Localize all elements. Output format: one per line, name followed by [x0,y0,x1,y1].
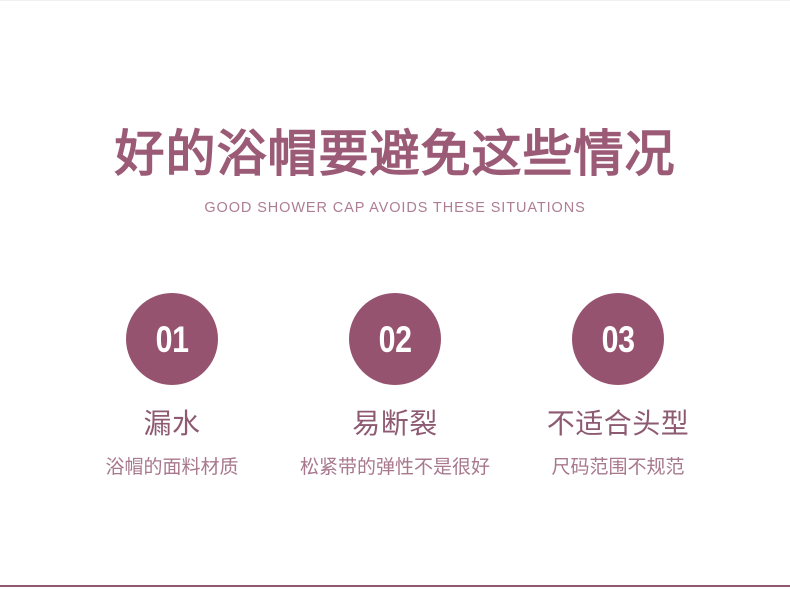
feature-column-03: 03 不适合头型 尺码范围不规范 [507,293,730,481]
badge-number-label: 02 [379,321,412,358]
feature-heading-01: 漏水 [143,385,200,441]
page-title: 好的浴帽要避免这些情况 [0,125,790,183]
feature-column-02: 02 易断裂 松紧带的弹性不是很好 [284,293,507,481]
number-badge-01: 01 [126,293,218,385]
badge-number-label: 03 [602,321,635,358]
bottom-divider [0,585,790,587]
number-badge-02: 02 [349,293,441,385]
feature-description-03: 尺码范围不规范 [518,441,718,481]
feature-columns: 01 漏水 浴帽的面料材质 02 易断裂 松紧带的弹性不是很好 03 不适合头型… [0,293,790,481]
feature-heading-03: 不适合头型 [547,385,690,441]
feature-description-01: 浴帽的面料材质 [72,441,272,481]
badge-number-label: 01 [156,321,189,358]
feature-column-01: 01 漏水 浴帽的面料材质 [61,293,284,481]
feature-description-02: 松紧带的弹性不是很好 [295,441,495,481]
feature-heading-02: 易断裂 [352,385,438,441]
page-subtitle: GOOD SHOWER CAP AVOIDS THESE SITUATIONS [0,183,790,216]
promo-page: 好的浴帽要避免这些情况 GOOD SHOWER CAP AVOIDS THESE… [0,0,790,589]
header-block: 好的浴帽要避免这些情况 GOOD SHOWER CAP AVOIDS THESE… [0,125,790,216]
number-badge-03: 03 [572,293,664,385]
